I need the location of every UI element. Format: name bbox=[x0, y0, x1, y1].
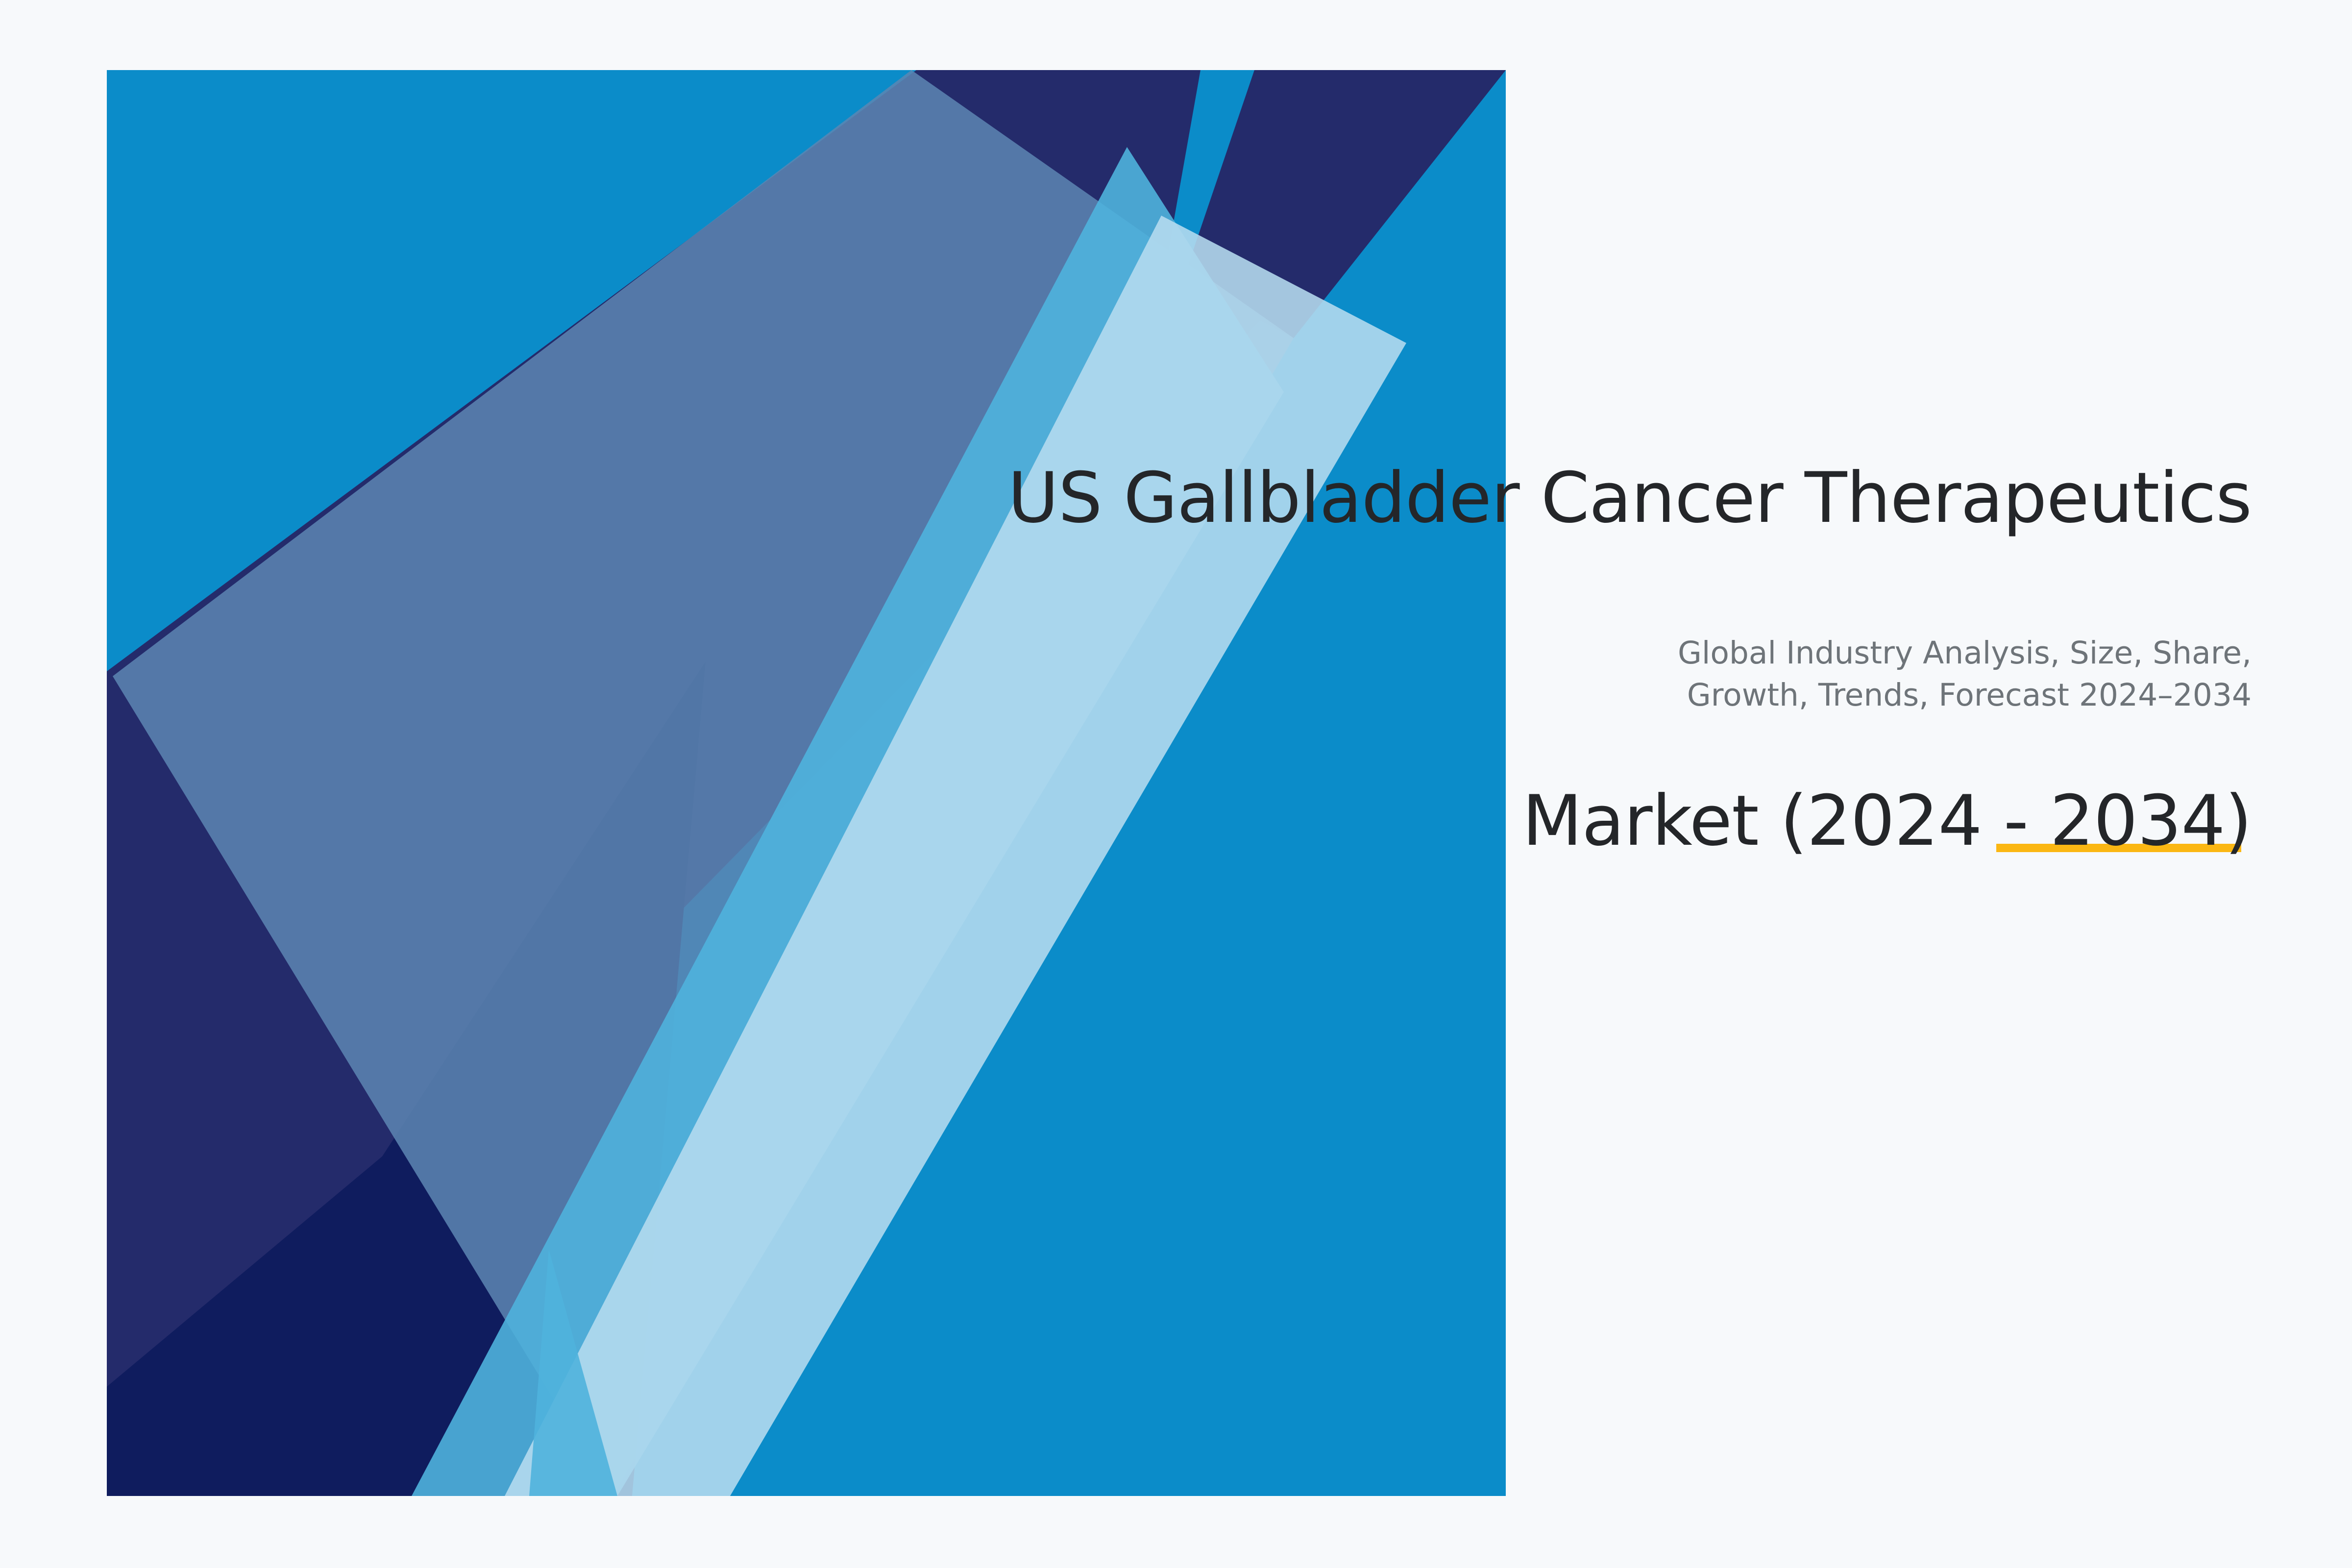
shape-indigo-navy-right-block bbox=[916, 70, 1506, 338]
page-title-line-1: US Gallbladder Cancer Therapeutics bbox=[757, 458, 2252, 539]
page-title-line-2-text: Market (2024 - 2034) bbox=[1522, 781, 2252, 861]
shape-deep-navy-lower-block bbox=[107, 1156, 632, 1496]
page-title: US Gallbladder Cancer Therapeutics Marke… bbox=[757, 377, 2252, 942]
shape-sky-blue-tail bbox=[529, 1249, 617, 1496]
shape-cyan-sliver bbox=[1142, 70, 1254, 402]
shape-deep-navy-spike bbox=[113, 661, 706, 1496]
report-cover-page: US Gallbladder Cancer Therapeutics Marke… bbox=[0, 0, 2352, 1568]
title-block: US Gallbladder Cancer Therapeutics Marke… bbox=[757, 377, 2252, 942]
page-title-line-2: Market (2024 - 2034) bbox=[757, 619, 2252, 861]
